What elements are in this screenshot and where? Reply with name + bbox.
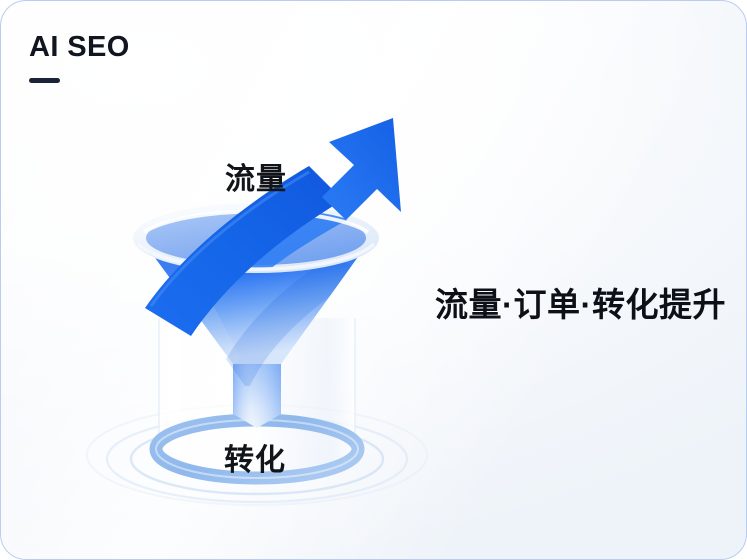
funnel-label-conversion: 转化 xyxy=(224,435,286,479)
funnel-label-traffic: 流量 xyxy=(225,154,287,198)
header: AI SEO xyxy=(29,33,130,83)
slide-card: AI SEO 流量·订单·转化提升 xyxy=(0,0,747,560)
title-underline-rule xyxy=(29,78,60,83)
page-title: AI SEO xyxy=(29,33,130,62)
tagline-text: 流量·订单·转化提升 xyxy=(435,278,726,326)
